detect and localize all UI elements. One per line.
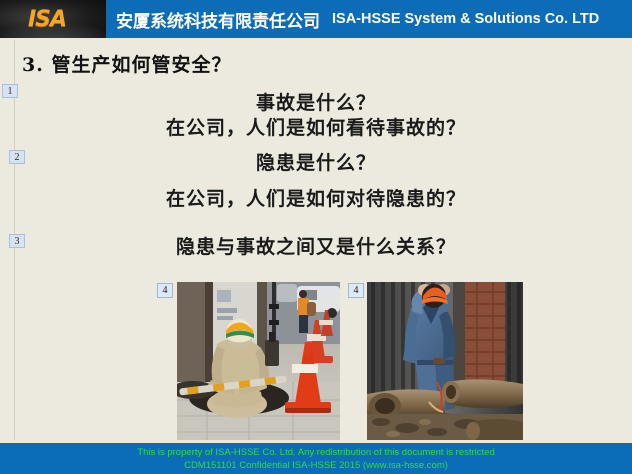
- footer-copyright-line: This is property of ISA-HSSE Co. Ltd. An…: [0, 446, 632, 459]
- photo-manhole-worker: [177, 282, 340, 440]
- isa-logo-icon: ISA: [28, 7, 66, 32]
- question-line-3: 隐患是什么？: [0, 148, 632, 175]
- question-line-1: 事故是什么？: [0, 88, 632, 115]
- photo-hardhat-worker-art: [367, 282, 523, 440]
- question-line-2: 在公司，人们是如何看待事故的？: [0, 113, 632, 140]
- page-title: 3. 管生产如何管安全？: [22, 50, 231, 77]
- photo-manhole-worker-art: [177, 282, 340, 440]
- footer-document-line: CDM151101 Confidential ISA-HSSE 2015 (ww…: [0, 459, 632, 472]
- company-name-cn: 安厦系统科技有限责任公司: [116, 7, 320, 32]
- question-line-4: 在公司，人们是如何对待隐患的？: [0, 184, 632, 211]
- question-line-5: 隐患与事故之间又是什么关系？: [0, 232, 632, 259]
- company-name-en: ISA-HSSE System & Solutions Co. LTD: [332, 11, 599, 27]
- photo-1-badge[interactable]: 4: [157, 283, 173, 298]
- logo-container: ISA: [0, 0, 106, 38]
- photo-hardhat-worker: [367, 282, 523, 440]
- header-title-bar: 安厦系统科技有限责任公司 ISA-HSSE System & Solutions…: [106, 0, 632, 38]
- slide-header: ISA 安厦系统科技有限责任公司 ISA-HSSE System & Solut…: [0, 0, 632, 38]
- slide: ISA 安厦系统科技有限责任公司 ISA-HSSE System & Solut…: [0, 0, 632, 474]
- slide-footer: This is property of ISA-HSSE Co. Ltd. An…: [0, 443, 632, 474]
- photo-2-badge[interactable]: 4: [348, 283, 364, 298]
